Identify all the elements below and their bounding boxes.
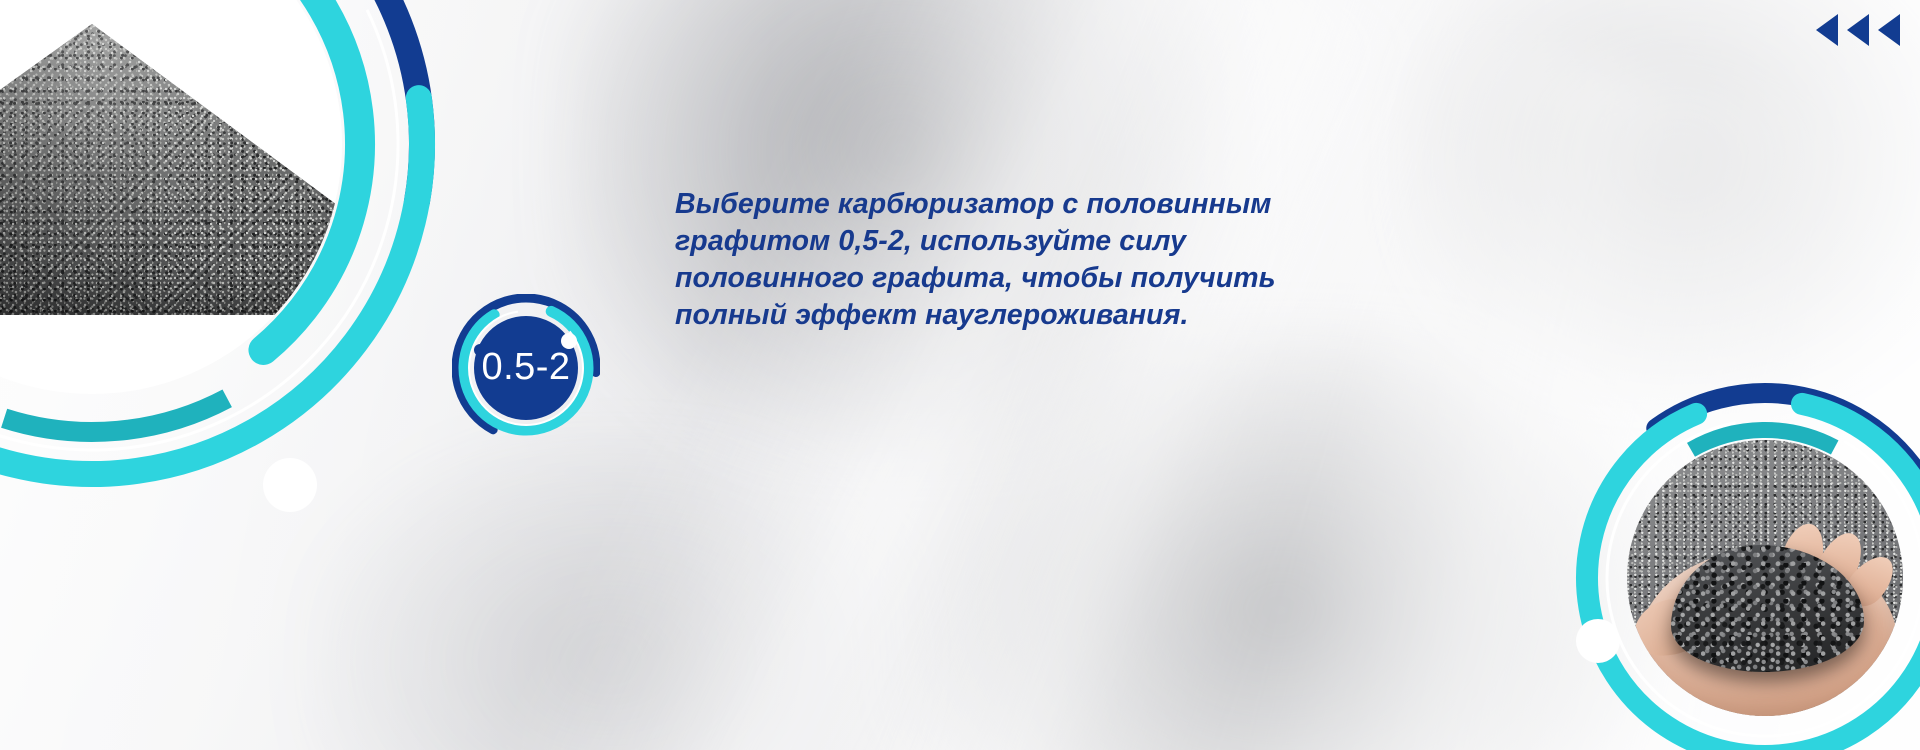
triangle-left-icon[interactable] <box>1847 14 1869 46</box>
nav-arrows-group[interactable] <box>1816 14 1900 46</box>
hand-product-graphic <box>1530 348 1920 750</box>
headline-line-1: Выберите карбюризатор с половинным <box>675 186 1315 223</box>
size-badge: 0.5-2 <box>452 294 600 442</box>
headline-text-block: Выберите карбюризатор с половинным графи… <box>675 186 1315 334</box>
headline-line-2: графитом 0,5-2, используйте силу <box>675 223 1315 260</box>
headline-line-3: половинного графита, чтобы получить <box>675 260 1315 297</box>
size-badge-value: 0.5-2 <box>452 294 600 442</box>
triangle-left-icon[interactable] <box>1878 14 1900 46</box>
triangle-left-icon[interactable] <box>1816 14 1838 46</box>
hand-ring-decoration <box>1530 348 1920 750</box>
headline-line-4: полный эффект науглероживания. <box>675 297 1315 334</box>
hand-white-node-dot <box>1576 619 1620 663</box>
white-node-dot <box>263 458 317 512</box>
promo-banner: 0.5-2 Выберите карбюризатор с половинным… <box>0 0 1920 750</box>
granule-pile-image <box>0 24 342 324</box>
